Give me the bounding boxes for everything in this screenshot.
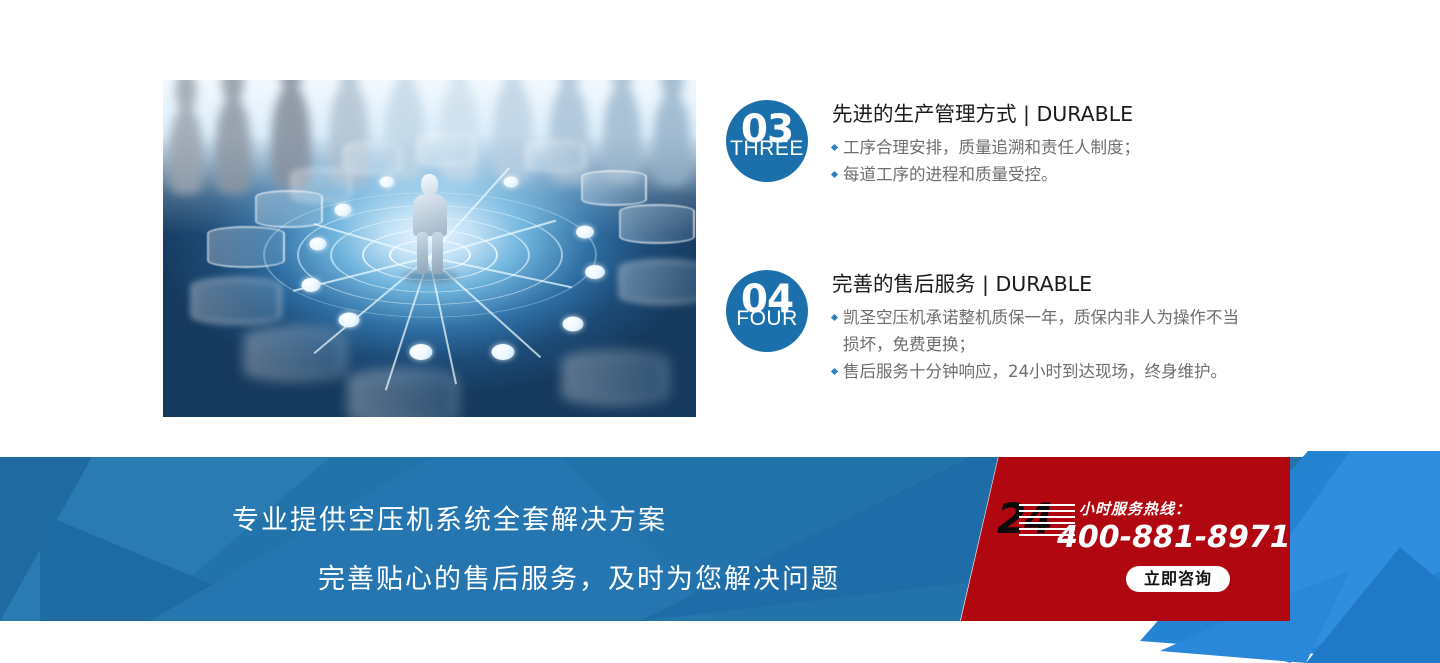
ring-object [525, 140, 585, 172]
hotline-row: 24 小时服务热线： 400-881-8971 [997, 496, 1297, 542]
hotline-phone-number[interactable]: 400-881-8971 [1057, 520, 1291, 555]
feature-body: 先进的生产管理方式 | DURABLE 工序合理安排，质量追溯和责任人制度； 每… [832, 100, 1252, 188]
person-figure-icon [411, 174, 449, 272]
ring-object [245, 328, 345, 380]
feature-point: 售后服务十分钟响应，24小时到达现场，终身维护。 [832, 358, 1252, 385]
feature-title: 完善的售后服务 | DURABLE [832, 270, 1252, 298]
ring-object [343, 142, 401, 174]
feature-badge-03: 03 THREE [726, 100, 808, 182]
network-node [504, 177, 519, 188]
hotline-group: 24 小时服务热线： 400-881-8971 [997, 496, 1297, 542]
ring-object [581, 170, 647, 206]
ring-object [207, 226, 285, 268]
diamond-bullet-icon [831, 368, 838, 375]
feature-number-word: FOUR [726, 308, 808, 329]
feature-point-text: 售后服务十分钟响应，24小时到达现场，终身维护。 [843, 362, 1227, 381]
diamond-bullet-icon [831, 314, 838, 321]
feature-point-list: 凯圣空压机承诺整机质保一年，质保内非人为操作不当损坏，免费更换； 售后服务十分钟… [832, 304, 1252, 385]
crowd-silhouette [215, 98, 251, 194]
feature-badge-04: 04 FOUR [726, 270, 808, 352]
network-node [585, 265, 605, 279]
diamond-bullet-icon [831, 171, 838, 178]
network-node [302, 278, 321, 292]
network-node [380, 177, 395, 188]
network-node [563, 317, 584, 332]
feature-point: 凯圣空压机承诺整机质保一年，质保内非人为操作不当损坏，免费更换； [832, 304, 1252, 358]
business-network-image [163, 80, 696, 417]
banner-headline-2: 完善贴心的售后服务，及时为您解决问题 [318, 557, 840, 596]
feature-point: 每道工序的进程和质量受控。 [832, 161, 1252, 188]
consult-now-button[interactable]: 立即咨询 [1126, 566, 1230, 592]
crowd-silhouette [169, 108, 203, 194]
network-node [492, 344, 515, 360]
figure-head [421, 174, 438, 195]
figure-body [413, 194, 447, 236]
feature-point-list: 工序合理安排，质量追溯和责任人制度； 每道工序的进程和质量受控。 [832, 134, 1252, 188]
banner-headline-1: 专业提供空压机系统全套解决方案 [232, 498, 667, 537]
hotline-label: 小时服务热线： [1079, 498, 1191, 519]
crowd-silhouette [653, 94, 691, 186]
feature-point-text: 凯圣空压机承诺整机质保一年，质保内非人为操作不当损坏，免费更换； [843, 308, 1239, 354]
figure-leg-right [432, 232, 443, 274]
network-node [410, 344, 433, 360]
feature-body: 完善的售后服务 | DURABLE 凯圣空压机承诺整机质保一年，质保内非人为操作… [832, 270, 1252, 385]
figure-leg-left [417, 232, 428, 274]
hotline-hours-number: 24 [997, 498, 1051, 540]
ring-object [349, 370, 457, 417]
ring-object [563, 352, 667, 404]
network-node [339, 313, 360, 328]
feature-point-text: 工序合理安排，质量追溯和责任人制度； [843, 138, 1140, 157]
feature-point-text: 每道工序的进程和质量受控。 [843, 165, 1058, 184]
feature-point: 工序合理安排，质量追溯和责任人制度； [832, 134, 1252, 161]
ring-object [191, 278, 281, 324]
features-section: 03 THREE 先进的生产管理方式 | DURABLE 工序合理安排，质量追溯… [0, 0, 1440, 450]
network-node [576, 226, 594, 239]
feature-number-word: THREE [726, 138, 808, 159]
ring-object [417, 134, 475, 166]
ring-object [619, 204, 695, 244]
ring-object [255, 190, 323, 228]
diamond-bullet-icon [831, 144, 838, 151]
ring-object [619, 260, 696, 304]
crowd-silhouette [439, 82, 479, 182]
feature-title: 先进的生产管理方式 | DURABLE [832, 100, 1252, 128]
figure-shadow [403, 270, 457, 283]
network-node [310, 238, 327, 251]
network-node [335, 204, 352, 217]
crowd-silhouette [603, 86, 641, 182]
